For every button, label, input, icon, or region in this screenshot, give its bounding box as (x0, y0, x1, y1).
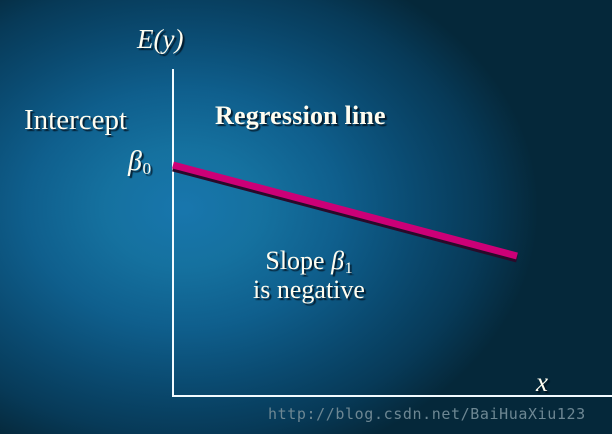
slope-second-line-text: is negative (184, 277, 434, 303)
intercept-label: Intercept (24, 106, 127, 135)
regression-line-shadow (173, 168, 517, 259)
beta-glyph: β (128, 146, 142, 177)
beta-subscript: 0 (142, 159, 151, 178)
slope-prefix-text: Slope (265, 246, 331, 275)
regression-line-graphic (0, 0, 612, 434)
x-axis-label-text: x (536, 367, 548, 397)
y-axis-label: E(y) (137, 26, 183, 53)
beta-subscript: 1 (345, 260, 353, 277)
watermark-url: http://blog.csdn.net/BaiHuaXiu123 (268, 405, 586, 423)
x-axis-label: x (536, 369, 548, 396)
intercept-label-text: Intercept (24, 104, 127, 136)
y-axis-label-text: E(y) (137, 24, 183, 54)
slide-title-text: Regression line (215, 101, 386, 130)
intercept-symbol: β0 (128, 148, 151, 177)
slide-title: Regression line (215, 103, 386, 129)
y-axis-line (172, 69, 174, 397)
watermark-text: http://blog.csdn.net/BaiHuaXiu123 (268, 405, 586, 423)
regression-line-stroke (173, 165, 517, 256)
beta-glyph: β (331, 246, 344, 275)
slide-canvas: E(y) x Intercept β0 Regression line Slop… (0, 0, 612, 434)
slope-annotation: Slope β1is negative (184, 248, 434, 303)
